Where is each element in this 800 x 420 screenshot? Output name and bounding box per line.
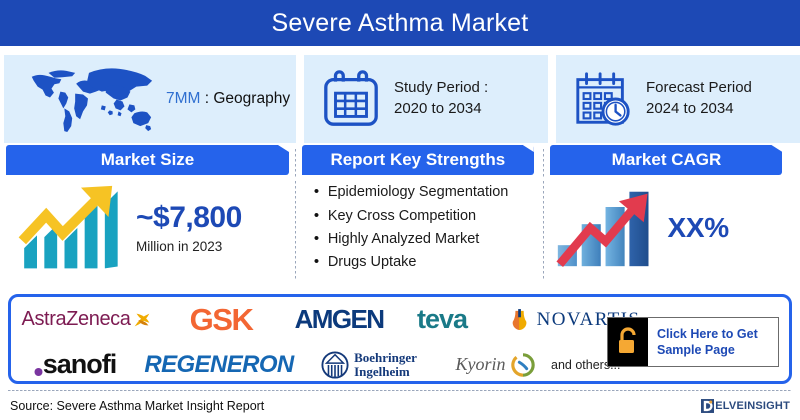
footer-divider bbox=[8, 390, 792, 391]
logo-astrazeneca: AstraZeneca bbox=[11, 308, 163, 332]
logo-kyorin-label: Kyorin bbox=[455, 354, 505, 375]
logo-boehringer-line1: Boehringer bbox=[354, 351, 417, 365]
delveinsight-label: ELVEINSIGHT bbox=[715, 400, 790, 412]
delveinsight-d-icon bbox=[701, 399, 714, 413]
footer: Source: Severe Asthma Market Insight Rep… bbox=[0, 392, 800, 420]
divider-6 bbox=[543, 181, 544, 279]
novartis-flame-icon bbox=[510, 308, 530, 332]
geography-separator: : bbox=[200, 90, 213, 107]
delveinsight-brand: ELVEINSIGHT bbox=[701, 399, 790, 413]
sample-page-label: Click Here to Get Sample Page bbox=[657, 326, 758, 359]
logo-boehringer-ingelheim: Boehringer Ingelheim bbox=[299, 350, 439, 380]
market-size-banner-wrap: Market Size bbox=[4, 145, 291, 175]
study-period-box: Study Period : 2020 to 2034 bbox=[304, 55, 548, 143]
title-bar: Severe Asthma Market bbox=[0, 0, 800, 46]
logo-regeneron-label: REGENERON bbox=[144, 351, 293, 379]
geography-label: 7MM : Geography bbox=[166, 90, 290, 108]
logo-kyorin: Kyorin bbox=[439, 353, 551, 377]
growth-bar-chart-icon bbox=[14, 184, 126, 272]
market-size-values: ~$7,800 Million in 2023 bbox=[136, 202, 242, 254]
key-strengths-list: Epidemiology Segmentation Key Cross Comp… bbox=[300, 181, 509, 275]
forecast-period-line1: Forecast Period bbox=[646, 78, 752, 98]
market-cagr-banner-wrap: Market CAGR bbox=[548, 145, 796, 175]
divider-3 bbox=[295, 149, 296, 177]
cta-line1: Click Here to Get bbox=[657, 326, 758, 342]
banner-market-size-label: Market Size bbox=[101, 150, 195, 170]
sample-page-button[interactable]: Click Here to Get Sample Page bbox=[607, 317, 779, 367]
page-title: Severe Asthma Market bbox=[272, 9, 529, 38]
list-item: Key Cross Competition bbox=[328, 205, 509, 228]
list-item: Highly Analyzed Market bbox=[328, 228, 509, 251]
kyorin-mark-icon bbox=[511, 353, 535, 377]
astrazeneca-mark-icon bbox=[131, 308, 153, 332]
logo-astrazeneca-label: AstraZeneca bbox=[22, 308, 131, 331]
infographic-poster: Severe Asthma Market bbox=[0, 0, 800, 420]
content-row: ~$7,800 Million in 2023 Epidemiology Seg… bbox=[0, 177, 800, 279]
logo-teva-label: teva bbox=[417, 304, 467, 335]
banner-notch bbox=[523, 145, 534, 152]
info-strip: 7MM : Geography bbox=[0, 46, 800, 145]
logo-gsk-label: GSK bbox=[190, 302, 253, 338]
market-size-value: ~$7,800 bbox=[136, 202, 242, 234]
banner-key-strengths: Report Key Strengths bbox=[302, 145, 534, 175]
calendar-clock-icon bbox=[572, 68, 634, 130]
open-padlock-icon bbox=[616, 327, 640, 357]
banner-market-cagr: Market CAGR bbox=[550, 145, 782, 175]
banner-market-size: Market Size bbox=[6, 145, 289, 175]
sanofi-dot-icon bbox=[34, 352, 43, 378]
calendar-icon bbox=[320, 68, 382, 130]
logo-sanofi-label: sanofi bbox=[43, 349, 117, 380]
logo-boehringer-text: Boehringer Ingelheim bbox=[354, 351, 417, 378]
lock-badge bbox=[608, 318, 648, 366]
logo-sanofi: sanofi bbox=[11, 349, 139, 380]
source-label: Source: Severe Asthma Market Insight Rep… bbox=[10, 399, 264, 413]
forecast-period-line2: 2024 to 2034 bbox=[646, 99, 752, 119]
divider-5 bbox=[295, 181, 296, 279]
divider-4 bbox=[543, 149, 544, 177]
logo-teva: teva bbox=[399, 304, 485, 335]
market-size-content: ~$7,800 Million in 2023 bbox=[4, 177, 291, 279]
forecast-period-cell: Forecast Period 2024 to 2034 bbox=[556, 52, 800, 145]
geography-value: 7MM bbox=[166, 90, 200, 107]
logo-gsk: GSK bbox=[163, 302, 279, 338]
market-size-unit: Million in 2023 bbox=[136, 239, 242, 254]
logo-regeneron: REGENERON bbox=[139, 351, 299, 379]
key-strengths-banner-wrap: Report Key Strengths bbox=[300, 145, 540, 175]
geography-box: 7MM : Geography bbox=[4, 55, 296, 143]
banner-notch bbox=[278, 145, 289, 152]
banner-row: Market Size Report Key Strengths Market … bbox=[0, 145, 800, 177]
boehringer-mark-icon bbox=[321, 350, 349, 380]
forecast-period-box: Forecast Period 2024 to 2034 bbox=[556, 55, 800, 143]
list-item: Epidemiology Segmentation bbox=[328, 181, 509, 204]
world-map-icon bbox=[12, 62, 162, 136]
study-period-line2: 2020 to 2034 bbox=[394, 99, 488, 119]
banner-notch bbox=[771, 145, 782, 152]
logo-amgen-label: AMGEN bbox=[295, 304, 384, 335]
study-period-cell: Study Period : 2020 to 2034 bbox=[304, 52, 548, 145]
geography-text: Geography bbox=[213, 90, 290, 107]
market-cagr-content: XX% bbox=[548, 177, 796, 279]
study-period-line1: Study Period : bbox=[394, 78, 488, 98]
geography-cell: 7MM : Geography bbox=[4, 52, 296, 145]
forecast-period-text: Forecast Period 2024 to 2034 bbox=[646, 78, 752, 119]
cagr-bar-chart-icon bbox=[554, 186, 659, 270]
study-period-text: Study Period : 2020 to 2034 bbox=[394, 78, 488, 119]
company-logos-panel: AstraZeneca GSK AMGEN teva bbox=[8, 294, 792, 384]
banner-key-strengths-label: Report Key Strengths bbox=[330, 150, 505, 170]
key-strengths-content: Epidemiology Segmentation Key Cross Comp… bbox=[300, 177, 540, 279]
logo-amgen: AMGEN bbox=[279, 304, 399, 335]
logo-boehringer-line2: Ingelheim bbox=[354, 365, 417, 379]
cta-line2: Sample Page bbox=[657, 342, 758, 358]
list-item: Drugs Uptake bbox=[328, 251, 509, 274]
market-cagr-value: XX% bbox=[667, 212, 728, 244]
banner-market-cagr-label: Market CAGR bbox=[612, 150, 722, 170]
